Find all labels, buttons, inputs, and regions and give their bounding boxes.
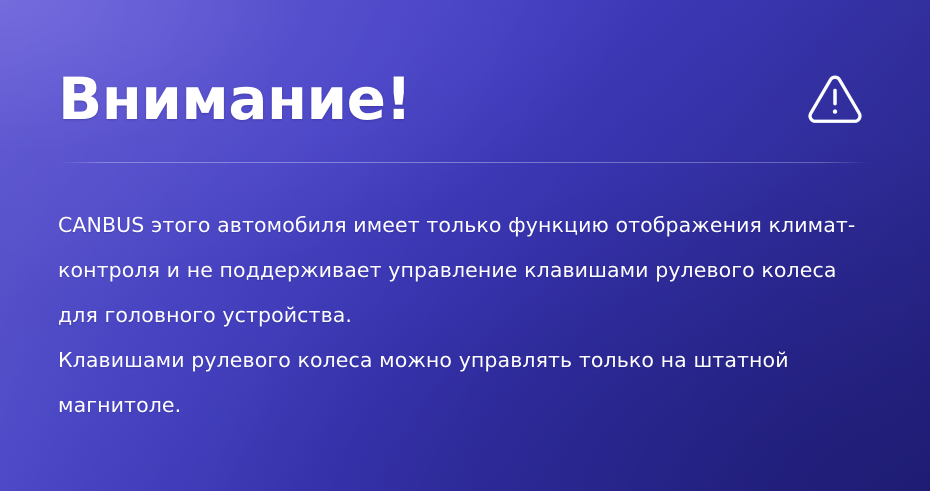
notice-paragraph-1: CANBUS этого автомобиля имеет только фун… bbox=[58, 203, 878, 338]
page-title: Внимание! bbox=[58, 70, 411, 128]
warning-triangle-icon bbox=[804, 68, 866, 130]
warning-banner: Внимание! CANBUS этого автомобиля имеет … bbox=[0, 0, 930, 491]
notice-paragraph-2: Клавишами рулевого колеса можно управлят… bbox=[58, 338, 878, 428]
banner-content: Внимание! bbox=[0, 0, 930, 162]
notice-body: CANBUS этого автомобиля имеет только фун… bbox=[0, 163, 930, 428]
warning-icon-wrapper bbox=[804, 68, 872, 130]
banner-header: Внимание! bbox=[58, 0, 872, 162]
